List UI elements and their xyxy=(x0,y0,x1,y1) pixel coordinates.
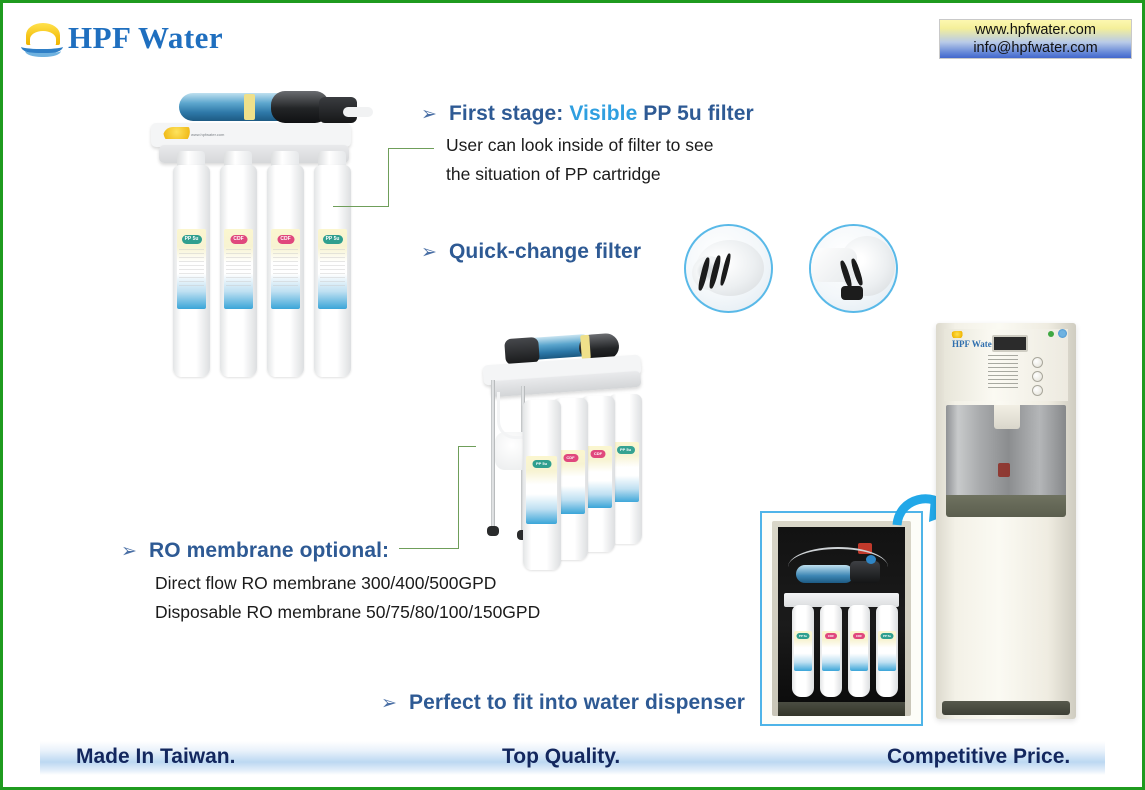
dispenser-button-warm[interactable] xyxy=(1032,371,1043,382)
water-dispenser-photo: HPF Water xyxy=(936,323,1076,729)
cartridge-label-3: CDF xyxy=(584,446,612,508)
cartridge-badge-pp: PP 5u xyxy=(182,235,202,244)
interior-cartridge-label-1: PP 5u xyxy=(794,631,812,671)
connector-line-2-horizontal xyxy=(399,548,459,549)
footer-item-competitive-price: Competitive Price. xyxy=(887,745,1070,769)
first-stage-subline-1: User can look inside of filter to see xyxy=(446,135,714,156)
bullet-quick-change-title: Quick-change filter xyxy=(449,240,641,264)
cartridge-badge-cdf: CDF xyxy=(563,454,578,462)
first-stage-prefix: First stage: xyxy=(449,102,569,125)
cartridge-badge-pp: PP 5u xyxy=(797,633,810,639)
dispenser-button-hot[interactable] xyxy=(1032,357,1043,368)
cartridge-badge-pp: PP 5u xyxy=(532,460,551,468)
interior-cartridge-3: CDF xyxy=(848,605,870,697)
cabinet-floor xyxy=(778,702,905,716)
dispenser-power-led xyxy=(1048,331,1054,337)
bullet-fit-dispenser-title: Perfect to fit into water dispenser xyxy=(409,691,745,715)
cartridge-2: CDF xyxy=(220,165,257,377)
footer-item-top-quality: Top Quality. xyxy=(502,745,620,769)
label-text-lines xyxy=(273,249,298,287)
website-text[interactable]: www.hpfwater.com xyxy=(975,21,1096,39)
label-text-lines xyxy=(179,249,204,287)
quick-change-connector-closeup-2 xyxy=(809,224,898,313)
bullet-arrow-icon: ➢ xyxy=(381,692,409,715)
cartridge-1: PP 5u xyxy=(173,165,210,377)
dispenser-indicator-scale xyxy=(988,355,1018,389)
cartridge-badge-pp: PP 5u xyxy=(323,235,343,244)
cartridge-badge-cdf: CDF xyxy=(591,450,606,458)
connector-line-1-vertical xyxy=(388,148,389,207)
connector-line-2-vertical xyxy=(458,446,459,549)
dispenser-badge-icon xyxy=(1058,329,1067,338)
bullet-ro-membrane-title: RO membrane optional: xyxy=(149,539,389,563)
contact-info-box: www.hpfwater.com info@hpfwater.com xyxy=(939,19,1132,59)
cartridge-badge-cdf: CDF xyxy=(853,633,865,639)
dispenser-emblem-icon xyxy=(998,463,1010,477)
bullet-quick-change: ➢ Quick-change filter xyxy=(421,240,641,264)
ro-system-with-stand-photo: PP 5u CDF CDF PP 5u xyxy=(469,328,659,568)
brand-logo: HPF Water xyxy=(20,19,223,57)
quick-change-connector-closeup-1 xyxy=(684,224,773,313)
footer-item-made-in-taiwan: Made In Taiwan. xyxy=(76,745,235,769)
cartridge-4: PP 5u xyxy=(314,165,351,377)
cartridge-label-1: PP 5u xyxy=(526,456,557,524)
plate-logo-text: www.hpfwater.com xyxy=(191,132,224,137)
email-text[interactable]: info@hpfwater.com xyxy=(973,39,1097,57)
dispenser-drip-tray xyxy=(946,495,1066,517)
membrane-yellow-band xyxy=(244,94,255,120)
dispenser-tap xyxy=(994,405,1020,429)
connector-line-2-horizontal-upper xyxy=(458,446,476,447)
dispenser-brand-text: HPF Water xyxy=(952,339,996,349)
connector-line-1-horizontal-lower xyxy=(333,206,389,207)
dispenser-base xyxy=(942,701,1070,715)
interior-cartridge-2: CDF xyxy=(820,605,842,697)
label-text-lines xyxy=(226,249,251,287)
bullet-arrow-icon: ➢ xyxy=(421,241,449,264)
first-stage-suffix: PP 5u filter xyxy=(637,102,753,125)
interior-cartridge-1: PP 5u xyxy=(792,605,814,697)
cartridge-3: CDF xyxy=(267,165,304,377)
slide-header: HPF Water www.hpfwater.com info@hpfwater… xyxy=(3,3,1142,65)
bullet-arrow-icon: ➢ xyxy=(421,103,449,126)
sun-wave-logo-icon xyxy=(20,21,66,55)
label-text-lines xyxy=(320,249,345,287)
dark-gap xyxy=(841,286,863,300)
cartridge-label-3: CDF xyxy=(271,229,300,309)
white-fitting xyxy=(343,107,373,117)
cartridge-badge-cdf: CDF xyxy=(230,235,247,244)
bullet-first-stage-title: First stage: Visible PP 5u filter xyxy=(449,102,754,126)
dispenser-button-cold[interactable] xyxy=(1032,385,1043,396)
interior-cartridge-label-3: CDF xyxy=(850,631,868,671)
interior-cartridge-label-2: CDF xyxy=(822,631,840,671)
first-stage-subline-2: the situation of PP cartridge xyxy=(446,164,661,185)
cartridge-badge-cdf: CDF xyxy=(825,633,837,639)
cartridge-label-1: PP 5u xyxy=(177,229,206,309)
cartridge-label-4: PP 5u xyxy=(612,442,639,502)
bullet-fit-dispenser: ➢ Perfect to fit into water dispenser xyxy=(381,691,745,715)
cartridge-1: PP 5u xyxy=(523,400,561,570)
cartridge-label-2: CDF xyxy=(224,229,253,309)
dispenser-logo-icon xyxy=(950,331,966,338)
membrane-yellow-band xyxy=(580,335,591,360)
cartridge-badge-pp: PP 5u xyxy=(881,633,894,639)
bullet-first-stage: ➢ First stage: Visible PP 5u filter xyxy=(421,102,754,126)
brand-name: HPF Water xyxy=(68,21,223,55)
first-stage-highlight: Visible xyxy=(569,102,637,125)
interior-cartridge-4: PP 5u xyxy=(876,605,898,697)
interior-cartridge-label-4: PP 5u xyxy=(878,631,896,671)
ro-system-front-photo: www.hpfwater.com PP 5u CDF CDF xyxy=(151,91,381,381)
cartridge-badge-cdf: CDF xyxy=(277,235,294,244)
slide-canvas: HPF Water www.hpfwater.com info@hpfwater… xyxy=(0,0,1145,790)
connector-line-1-horizontal-upper xyxy=(388,148,434,149)
interior-membrane xyxy=(796,565,854,583)
cartridge-badge-pp: PP 5u xyxy=(617,446,635,454)
bullet-ro-membrane: ➢ RO membrane optional: xyxy=(121,539,389,563)
cartridge-label-4: PP 5u xyxy=(318,229,347,309)
dispenser-interior-inset-photo: PP 5u CDF CDF PP 5u xyxy=(760,511,923,726)
bullet-arrow-icon: ➢ xyxy=(121,540,149,563)
ro-membrane-subline-1: Direct flow RO membrane 300/400/500GPD xyxy=(155,573,496,594)
ro-membrane-subline-2: Disposable RO membrane 50/75/80/100/150G… xyxy=(155,602,540,623)
dispenser-display xyxy=(992,335,1028,352)
stand-foot-left xyxy=(487,526,499,536)
